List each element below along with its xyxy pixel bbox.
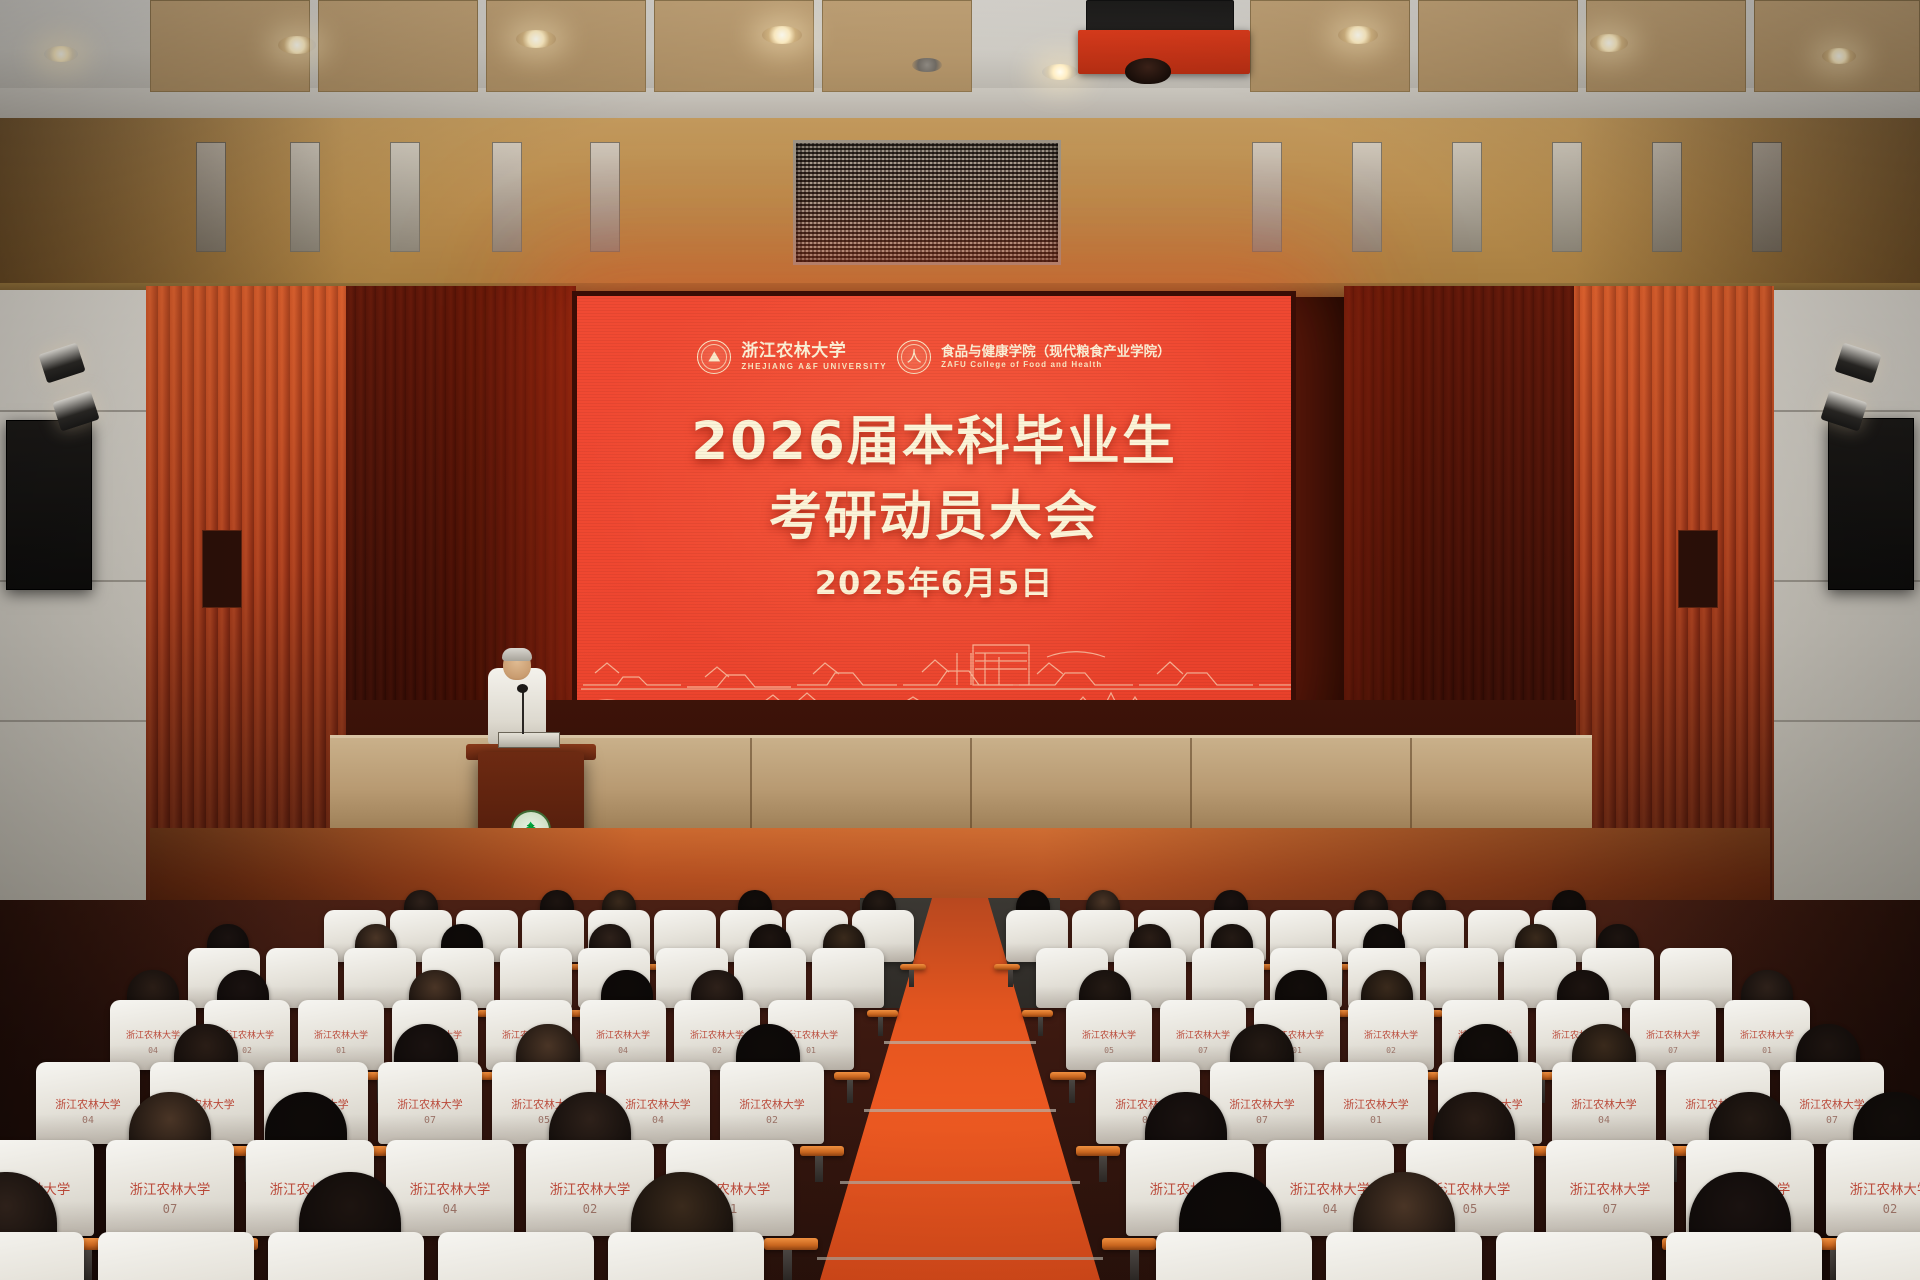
- seat-cover: [266, 948, 338, 1008]
- seat-cover-logo: 浙江农林大学: [126, 1032, 180, 1041]
- seat-number: 04: [618, 1046, 628, 1054]
- ceiling-downlight: [44, 46, 78, 62]
- seat-cover-logo: 浙江农林大学: [1646, 1032, 1700, 1041]
- seat-cover: 浙江农林大学02: [720, 1062, 824, 1144]
- seat-cover: 浙江农林大学07: [1496, 1232, 1652, 1280]
- seat-cover: 浙江农林大学07: [1630, 1000, 1716, 1070]
- university-logo-text: 浙江农林大学 ZHEJIANG A&F UNIVERSITY: [741, 343, 887, 371]
- ceiling-downlight: [516, 30, 556, 48]
- seat-number: 02: [242, 1046, 252, 1054]
- seat-cover-logo: 浙江农林大学: [397, 1100, 462, 1111]
- seat-armrest: [834, 1072, 870, 1080]
- aisle-step: [864, 1109, 1056, 1112]
- ceiling-downlight: [278, 36, 316, 54]
- ceiling-downlight-off: [912, 58, 942, 72]
- seat-cover: [500, 948, 572, 1008]
- seat-number: 02: [766, 1116, 778, 1126]
- auditorium-scene: ⛰ 浙江农林大学 ZHEJIANG A&F UNIVERSITY 人 食品与健康…: [0, 0, 1920, 1280]
- seat-unit: 浙江农林大学07: [1496, 1232, 1652, 1280]
- seat-cover-logo: 浙江农林大学: [1571, 1100, 1636, 1111]
- seat-cover-logo: 浙江农林大学: [625, 1100, 690, 1111]
- seat-cover-logo: 浙江农林大学: [1176, 1032, 1230, 1041]
- zhejiang-af-university-emblem: ⛰: [697, 340, 731, 374]
- seat-number: 04: [1323, 1203, 1338, 1215]
- seat-unit: 浙江农林大学01: [1666, 1232, 1822, 1280]
- seat-number: 04: [443, 1203, 458, 1215]
- seat-cover-logo: 浙江农林大学: [410, 1184, 491, 1197]
- seat-unit: 浙江农林大学02: [1836, 1232, 1920, 1280]
- seat-cover: 浙江农林大学07: [268, 1232, 424, 1280]
- college-emblem-glyph: 人: [907, 350, 922, 365]
- headline-line-2: 考研动员大会: [577, 479, 1291, 554]
- seat-post: [1099, 1156, 1106, 1182]
- seat-armrest: [1022, 1010, 1052, 1017]
- seat-cover: 浙江农林大学02: [1826, 1140, 1920, 1236]
- seat-post: [815, 1156, 822, 1182]
- right-side-wall: [1770, 290, 1920, 910]
- ceiling-tile: [486, 0, 646, 92]
- seat-cover-logo: 浙江农林大学: [55, 1100, 120, 1111]
- seat-cover: 浙江农林大学04: [386, 1140, 514, 1236]
- seat-cover-logo: 浙江农林大学: [690, 1032, 744, 1041]
- seat-cover: 浙江农林大学02: [0, 1232, 84, 1280]
- seat-cover: [1192, 948, 1264, 1008]
- seat-armrest: [1050, 1072, 1086, 1080]
- seat-cover-logo: 浙江农林大学: [1229, 1100, 1294, 1111]
- left-batten-wall: [146, 286, 352, 916]
- aisle-step: [817, 1257, 1103, 1260]
- seat-armrest: [867, 1010, 897, 1017]
- seat-cover: 浙江农林大学05: [1326, 1232, 1482, 1280]
- projector-lens: [1125, 58, 1171, 84]
- ceiling-tile: [822, 0, 972, 92]
- seat-number: 07: [1603, 1203, 1618, 1215]
- seat-number: 05: [538, 1116, 550, 1126]
- seat-cover: 浙江农林大学01: [1666, 1232, 1822, 1280]
- seat-cover-logo: 浙江农林大学: [596, 1032, 650, 1041]
- university-name-en: ZHEJIANG A&F UNIVERSITY: [741, 363, 887, 371]
- college-of-food-and-health-emblem: 人: [897, 340, 931, 374]
- seat-number: 05: [1463, 1203, 1478, 1215]
- seat-armrest: [800, 1146, 844, 1156]
- left-wall-recess-panel: [202, 530, 242, 608]
- seat-cover: 浙江农林大学04: [36, 1062, 140, 1144]
- seat-cover: 浙江农林大学05: [1066, 1000, 1152, 1070]
- seat-post: [1130, 1250, 1139, 1280]
- seat-post: [1069, 1080, 1075, 1102]
- seat-number: 04: [82, 1116, 94, 1126]
- seat-unit: 浙江农林大学07: [268, 1232, 424, 1280]
- seat-cover-logo: 浙江农林大学: [1364, 1032, 1418, 1041]
- seat-number: 02: [1883, 1203, 1898, 1215]
- seat-post: [909, 970, 914, 987]
- microphone-stand: [522, 690, 524, 734]
- ceiling-downlight: [1822, 48, 1856, 64]
- seat-number: 02: [583, 1203, 598, 1215]
- seat-unit: 浙江农林大学01: [98, 1232, 254, 1280]
- seat-unit: 浙江农林大学04: [608, 1232, 764, 1280]
- aisle-step: [884, 1041, 1036, 1044]
- seat-unit: 浙江农林大学05: [438, 1232, 594, 1280]
- seat-post: [1038, 1017, 1043, 1036]
- seat-cover-logo: 浙江农林大学: [1799, 1100, 1864, 1111]
- college-logo-text: 食品与健康学院（现代粮食产业学院） ZAFU College of Food a…: [941, 345, 1171, 370]
- headline-line-1: 2026届本科毕业生: [577, 404, 1291, 479]
- screen-headline: 2026届本科毕业生 考研动员大会: [577, 404, 1291, 555]
- ceiling-downlight: [762, 26, 802, 44]
- seat-number: 05: [1104, 1046, 1114, 1054]
- led-screen: ⛰ 浙江农林大学 ZHEJIANG A&F UNIVERSITY 人 食品与健康…: [577, 296, 1291, 731]
- seat-armrest: [764, 1238, 818, 1250]
- seat-cover: 浙江农林大学04: [608, 1232, 764, 1280]
- seat-number: 01: [336, 1046, 346, 1054]
- seat-cover: 浙江农林大学04: [580, 1000, 666, 1070]
- seat-cover-logo: 浙江农林大学: [314, 1032, 368, 1041]
- seat-cover: [344, 948, 416, 1008]
- seat-cover: 浙江农林大学01: [298, 1000, 384, 1070]
- seat-number: 07: [1668, 1046, 1678, 1054]
- seat-cover-logo: 浙江农林大学: [1290, 1184, 1371, 1197]
- right-batten-wall: [1568, 286, 1774, 916]
- seat-unit: 浙江农林大学04: [1156, 1232, 1312, 1280]
- ceiling-tile: [318, 0, 478, 92]
- seat-post: [783, 1250, 792, 1280]
- seat-cover: 浙江农林大学07: [1546, 1140, 1674, 1236]
- seat-cover-logo: 浙江农林大学: [1740, 1032, 1794, 1041]
- seat-cover: 浙江农林大学01: [98, 1232, 254, 1280]
- screen-logo-row: ⛰ 浙江农林大学 ZHEJIANG A&F UNIVERSITY 人 食品与健康…: [577, 340, 1291, 374]
- left-wall-speaker: [6, 420, 92, 590]
- seat-post: [83, 1250, 92, 1280]
- ceiling-downlight: [1338, 26, 1378, 44]
- left-side-wall: [0, 290, 150, 910]
- seat-cover: [812, 948, 884, 1008]
- right-wall-speaker: [1828, 418, 1914, 590]
- college-name-en: ZAFU College of Food and Health: [941, 361, 1171, 369]
- seat-cover: 浙江农林大学04: [1552, 1062, 1656, 1144]
- college-name-cn: 食品与健康学院（现代粮食产业学院）: [941, 345, 1171, 359]
- presenter-hair: [502, 648, 532, 661]
- seat-unit: 浙江农林大学02: [0, 1232, 84, 1280]
- seat-cover-logo: 浙江农林大学: [1850, 1184, 1920, 1197]
- seat-number: 01: [1762, 1046, 1772, 1054]
- seat-number: 04: [148, 1046, 158, 1054]
- screen-date-line: 2025年6月5日: [577, 558, 1291, 604]
- led-screen-frame: ⛰ 浙江农林大学 ZHEJIANG A&F UNIVERSITY 人 食品与健康…: [572, 291, 1296, 736]
- seat-cover: 浙江农林大学07: [106, 1140, 234, 1236]
- seat-cover: 浙江农林大学04: [1156, 1232, 1312, 1280]
- seat-cover-logo: 浙江农林大学: [1343, 1100, 1408, 1111]
- seat-cover: 浙江农林大学01: [1324, 1062, 1428, 1144]
- seat-post: [847, 1080, 853, 1102]
- right-wall-recess-panel: [1678, 530, 1718, 608]
- seat-cover-logo: 浙江农林大学: [130, 1184, 211, 1197]
- seat-number: 04: [652, 1116, 664, 1126]
- ceiling-tile: [1250, 0, 1410, 92]
- seat-number: 07: [163, 1203, 178, 1215]
- seat-cover-logo: 浙江农林大学: [1082, 1032, 1136, 1041]
- upper-wall-shading: [0, 118, 1920, 288]
- seat-number: 02: [1386, 1046, 1396, 1054]
- seat-cover: [1426, 948, 1498, 1008]
- seat-number: 07: [1256, 1116, 1268, 1126]
- seat-number: 01: [1370, 1116, 1382, 1126]
- seat-cover-logo: 浙江农林大学: [550, 1184, 631, 1197]
- seat-number: 07: [424, 1116, 436, 1126]
- ceiling-tile: [1754, 0, 1920, 92]
- podium-nameplate: [498, 732, 560, 748]
- university-name-cn: 浙江农林大学: [741, 343, 887, 361]
- seat-unit: 浙江农林大学05: [1326, 1232, 1482, 1280]
- aisle-step: [840, 1181, 1080, 1184]
- ceiling-tile: [1418, 0, 1578, 92]
- ceiling-downlight: [1590, 34, 1628, 52]
- university-emblem-glyph: ⛰: [708, 350, 721, 365]
- seat-number: 01: [806, 1046, 816, 1054]
- ceiling-downlight: [1042, 64, 1078, 80]
- seat-post: [1008, 970, 1013, 987]
- seat-cover-logo: 浙江农林大学: [739, 1100, 804, 1111]
- gooseneck-microphone: [517, 684, 528, 693]
- seat-cover: [1660, 948, 1732, 1008]
- seat-cover: 浙江农林大学05: [438, 1232, 594, 1280]
- seat-number: 07: [1826, 1116, 1838, 1126]
- seat-armrest: [1076, 1146, 1120, 1156]
- seat-armrest: [1102, 1238, 1156, 1250]
- seat-cover: 浙江农林大学07: [378, 1062, 482, 1144]
- ceiling-tile: [654, 0, 814, 92]
- seat-cover: 浙江农林大学02: [1836, 1232, 1920, 1280]
- seat-cover: [734, 948, 806, 1008]
- seat-post: [878, 1017, 883, 1036]
- seat-number: 07: [1198, 1046, 1208, 1054]
- seat-number: 02: [712, 1046, 722, 1054]
- seat-cover: 浙江农林大学02: [1348, 1000, 1434, 1070]
- seat-cover-logo: 浙江农林大学: [1570, 1184, 1651, 1197]
- seat-number: 04: [1598, 1116, 1610, 1126]
